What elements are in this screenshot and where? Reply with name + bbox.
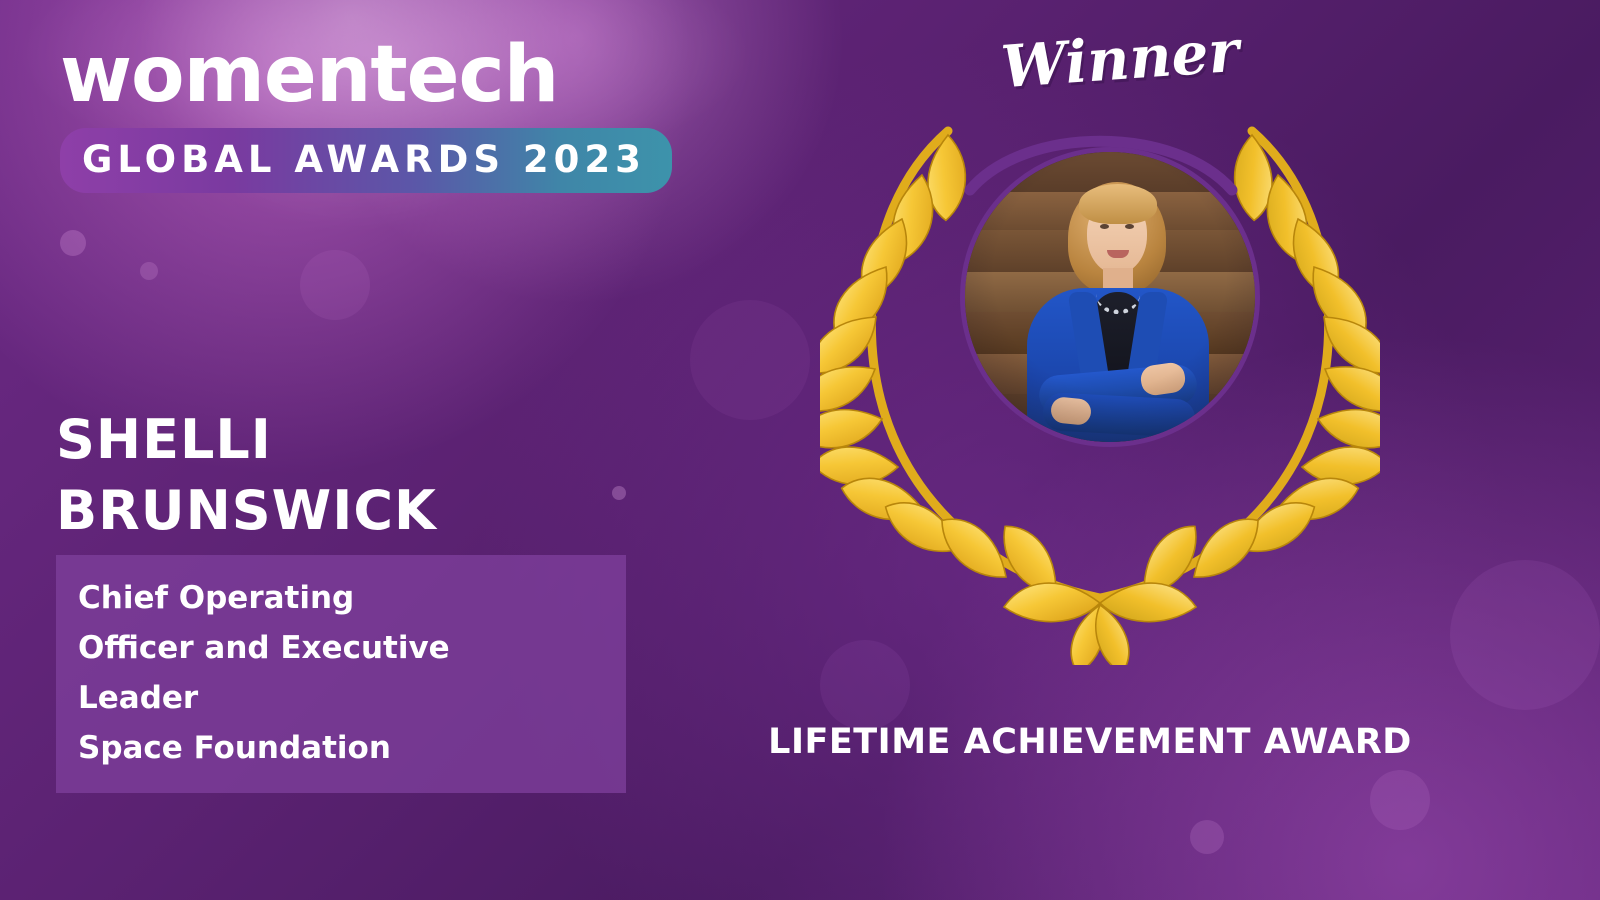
award-category-label: LIFETIME ACHIEVEMENT AWARD xyxy=(690,722,1490,762)
winner-title-line-4: Space Foundation xyxy=(78,723,620,773)
winner-title-box: Chief Operating Officer and Executive Le… xyxy=(56,555,626,794)
winner-title-line-1: Chief Operating xyxy=(78,573,620,623)
winner-title-line-2: Officer and Executive xyxy=(78,623,620,673)
winner-title-line-3: Leader xyxy=(78,673,620,723)
winner-portrait xyxy=(960,147,1260,447)
photo-vignette xyxy=(965,152,1255,442)
brand-wordmark: womentech xyxy=(60,36,700,114)
winner-name-line-2: BRUNSWICK xyxy=(56,475,696,546)
laurel-medal: Winner xyxy=(820,95,1380,665)
brand-logo: womentech GLOBAL AWARDS 2023 xyxy=(60,36,700,193)
brand-award-bar-label: GLOBAL AWARDS 2023 xyxy=(82,138,646,181)
winner-info: SHELLI BRUNSWICK Chief Operating Officer… xyxy=(56,404,696,793)
winner-name-line-1: SHELLI xyxy=(56,404,696,475)
brand-award-bar: GLOBAL AWARDS 2023 xyxy=(60,128,672,193)
